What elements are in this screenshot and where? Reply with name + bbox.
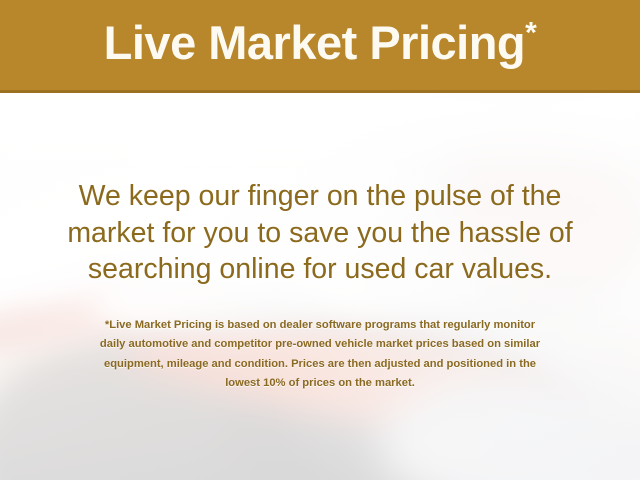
page-title: Live Market Pricing* xyxy=(0,12,640,74)
page-title-text: Live Market Pricing xyxy=(104,16,526,69)
disclaimer-line: *Live Market Pricing is based on dealer … xyxy=(30,316,610,335)
headline-line: searching online for used car values. xyxy=(20,251,620,288)
disclaimer-line: lowest 10% of prices on the market. xyxy=(30,374,610,393)
headline: We keep our finger on the pulse of the m… xyxy=(20,178,620,288)
headline-line: We keep our finger on the pulse of the xyxy=(20,178,620,215)
live-market-pricing-slide: Live Market Pricing* We keep our finger … xyxy=(0,0,640,480)
headline-line: market for you to save you the hassle of xyxy=(20,215,620,252)
disclaimer-line: daily automotive and competitor pre-owne… xyxy=(30,335,610,354)
disclaimer: *Live Market Pricing is based on dealer … xyxy=(30,316,610,394)
disclaimer-line: equipment, mileage and condition. Prices… xyxy=(30,355,610,374)
header-band: Live Market Pricing* xyxy=(0,0,640,93)
page-title-footnote-marker: * xyxy=(525,16,536,49)
